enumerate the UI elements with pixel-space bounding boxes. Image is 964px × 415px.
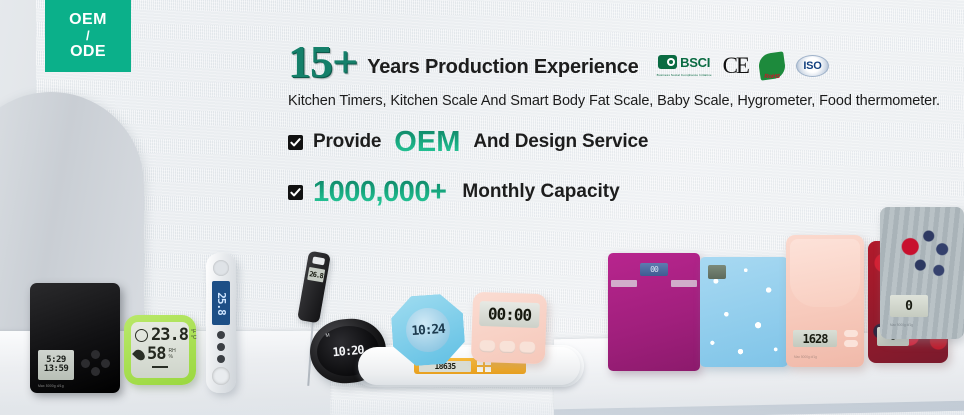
black-scale-buttons [81, 350, 111, 376]
pink-scale-bowl [790, 239, 860, 307]
product-list-text: Kitchen Timers, Kitchen Scale And Smart … [288, 93, 960, 109]
badge-line-1: OEM [69, 11, 107, 29]
pink-timer-buttons [479, 340, 535, 354]
feature-row-oem: Provide OEM And Design Service [288, 126, 960, 159]
product-blue-dot-body-scale [700, 257, 788, 367]
hygrometer-temperature: 23.8 [151, 327, 188, 344]
pink-scale-display: 1628 [793, 330, 837, 347]
badge-slash: / [86, 29, 90, 43]
iso-logo: ISO [796, 55, 829, 77]
magenta-scale-electrode-left [611, 280, 637, 287]
headline-row: 15+ Years Production Experience BSCI Bus… [288, 40, 960, 84]
white-thermometer-display: 25.8 [212, 281, 230, 325]
product-magenta-body-fat-scale: 00 [608, 253, 700, 371]
white-thermometer-hinge [213, 260, 229, 276]
grey-scale-footer: Max 5000g d/1g [890, 323, 913, 327]
face-icon [135, 329, 148, 342]
magenta-scale-display: 00 [640, 263, 668, 276]
black-thermometer-cap [312, 256, 325, 265]
bsci-logo: BSCI Business Social Compliance Initiati… [657, 55, 712, 77]
blue-timer-value: 10:24 [411, 321, 445, 338]
bsci-sublabel: Business Social Compliance Initiative [657, 73, 712, 77]
feature-oem-suffix: And Design Service [473, 131, 648, 153]
bsci-label: BSCI [680, 55, 710, 70]
hygrometer-indicator-bar [152, 366, 168, 368]
product-pink-kitchen-scale: 1628 Max 5000g d/1g [786, 235, 864, 367]
pink-scale-buttons [844, 330, 858, 347]
product-white-baby-scale: 18635 [358, 347, 580, 385]
pink-timer-display: 00:00 [479, 301, 540, 328]
product-black-kitchen-scale: 5:29 13:59 Max 5000g d/1g [30, 283, 120, 393]
black-thermometer-display: 26.8 [307, 267, 325, 283]
certification-list: BSCI Business Social Compliance Initiati… [657, 53, 829, 84]
ce-logo: CE [723, 53, 748, 79]
capacity-number: 1000,000+ [313, 176, 446, 209]
white-thermometer-value: 25.8 [215, 292, 228, 315]
black-scale-display: 5:29 13:59 [38, 350, 74, 380]
magenta-scale-electrode-right [671, 280, 697, 287]
blue-timer-face: 10:24 [405, 307, 452, 354]
bsci-mark-icon [658, 55, 677, 69]
black-scale-footer: Max 5000g d/1g [38, 384, 64, 388]
experience-number: 15+ [288, 40, 357, 84]
capacity-label: Monthly Capacity [462, 181, 619, 203]
checkmark-icon [288, 185, 303, 200]
white-thermometer-hook [212, 367, 230, 385]
feature-oem-prefix: Provide [313, 131, 381, 153]
hygrometer-temp-line: 23.8 °F°C [135, 327, 185, 344]
experience-title: Years Production Experience [367, 56, 638, 84]
product-green-hygrometer: 23.8 °F°C 58 RH% [124, 315, 196, 385]
hygrometer-display: 23.8 °F°C 58 RH% [131, 322, 189, 378]
promo-banner: OEM / ODE 15+ Years Production Experienc… [0, 0, 964, 415]
rohs-logo: RoHS [759, 53, 785, 79]
feature-oem-highlight: OEM [391, 126, 463, 159]
water-drop-icon [132, 347, 147, 362]
hygrometer-temp-unit: °F°C [191, 330, 197, 341]
product-grey-wood-scale: 0 Max 5000g d/1g [880, 207, 964, 339]
badge-line-2: ODE [70, 43, 106, 61]
hygrometer-humidity-line: 58 RH% [135, 346, 185, 363]
product-pink-timer: 00:00 [471, 292, 547, 365]
blue-dot-scale-display [708, 265, 726, 279]
black-scale-lcd-bottom: 13:59 [44, 365, 69, 374]
round-timer-mini-label: M [325, 333, 330, 339]
checkmark-icon [288, 135, 303, 150]
product-white-thermometer: 25.8 [206, 253, 236, 393]
white-thermometer-buttons [217, 331, 225, 363]
hygrometer-humidity: 58 [147, 346, 165, 363]
grey-scale-display: 0 [890, 295, 928, 317]
rohs-label: RoHS [764, 74, 781, 80]
oem-ode-badge: OEM / ODE [45, 0, 131, 72]
pink-scale-footer: Max 5000g d/1g [794, 355, 817, 359]
feature-row-capacity: 1000,000+ Monthly Capacity [288, 176, 960, 209]
bsci-logo-main: BSCI [658, 55, 710, 70]
headline-block: 15+ Years Production Experience BSCI Bus… [288, 40, 960, 209]
hygrometer-hum-unit: RH% [168, 349, 175, 360]
